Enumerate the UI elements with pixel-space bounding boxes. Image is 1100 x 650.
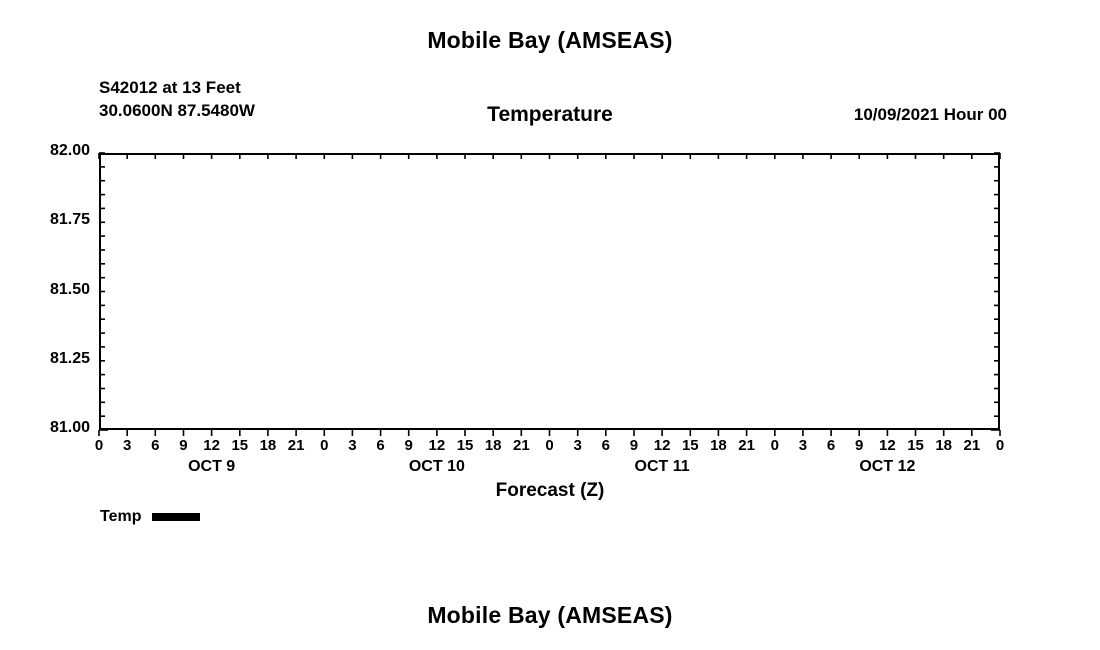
forecast-datestamp: 10/09/2021 Hour 00 [854, 105, 1007, 125]
page-title-top: Mobile Bay (AMSEAS) [0, 27, 1100, 54]
station-id-depth: S42012 at 13 Feet [99, 76, 255, 99]
tick-marks-layer [99, 153, 1000, 430]
x-axis-day-label: OCT 9 [132, 458, 292, 476]
plot-area [99, 153, 1000, 430]
y-tick-label: 81.75 [0, 211, 90, 229]
chart-page: Mobile Bay (AMSEAS) S42012 at 13 Feet 30… [0, 0, 1100, 650]
x-axis-day-label: OCT 11 [582, 458, 742, 476]
legend-label: Temp [100, 508, 141, 526]
page-title-bottom: Mobile Bay (AMSEAS) [0, 602, 1100, 629]
x-axis-label: Forecast (Z) [0, 480, 1100, 502]
y-tick-label: 82.00 [0, 142, 90, 160]
x-axis-day-label: OCT 12 [807, 458, 967, 476]
y-tick-label: 81.00 [0, 419, 90, 437]
legend: Temp [100, 508, 200, 526]
x-axis-day-label: OCT 10 [357, 458, 517, 476]
y-tick-label: 81.25 [0, 350, 90, 368]
legend-line-swatch [152, 513, 200, 521]
y-tick-label: 81.50 [0, 281, 90, 299]
x-tick-label: 0 [980, 437, 1020, 454]
